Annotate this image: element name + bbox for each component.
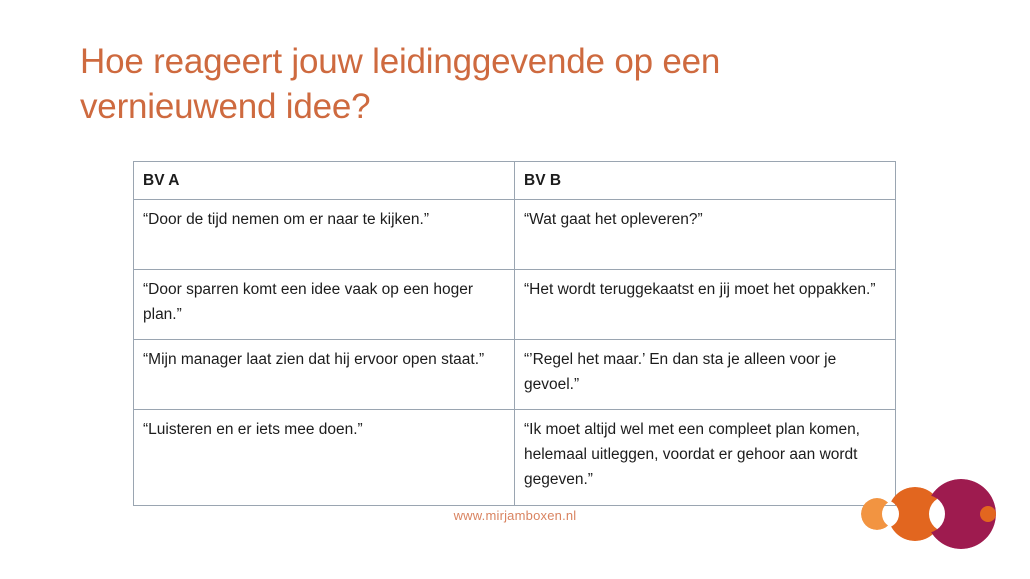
cell-bv-b-quote-2: “Het wordt teruggekaatst en jij moet het… bbox=[515, 270, 896, 340]
column-header-bv-a: BV A bbox=[134, 162, 515, 200]
cell-bv-b-quote-3: “’Regel het maar.’ En dan sta je alleen … bbox=[515, 340, 896, 410]
cell-bv-a-quote-1: “Door de tijd nemen om er naar te kijken… bbox=[134, 200, 515, 270]
table-row: “Door de tijd nemen om er naar te kijken… bbox=[134, 200, 896, 270]
table-row: “Mijn manager laat zien dat hij ervoor o… bbox=[134, 340, 896, 410]
comparison-table: BV A BV B “Door de tijd nemen om er naar… bbox=[133, 161, 896, 506]
page-title: Hoe reageert jouw leidinggevende op een … bbox=[80, 40, 780, 130]
cell-bv-b-quote-1: “Wat gaat het opleveren?” bbox=[515, 200, 896, 270]
table-header-row: BV A BV B bbox=[134, 162, 896, 200]
logo-shape-orange-dot bbox=[980, 506, 996, 522]
cell-bv-a-quote-4: “Luisteren en er iets mee doen.” bbox=[134, 410, 515, 506]
slide-canvas: Hoe reageert jouw leidinggevende op een … bbox=[0, 0, 1030, 579]
cell-bv-a-quote-2: “Door sparren komt een idee vaak op een … bbox=[134, 270, 515, 340]
table-row: “Luisteren en er iets mee doen.” “Ik moe… bbox=[134, 410, 896, 506]
cell-bv-a-quote-3: “Mijn manager laat zien dat hij ervoor o… bbox=[134, 340, 515, 410]
cell-bv-b-quote-4: “Ik moet altijd wel met een compleet pla… bbox=[515, 410, 896, 506]
comparison-table-container: BV A BV B “Door de tijd nemen om er naar… bbox=[133, 161, 895, 506]
table-row: “Door sparren komt een idee vaak op een … bbox=[134, 270, 896, 340]
column-header-bv-b: BV B bbox=[515, 162, 896, 200]
brand-logo-icon bbox=[855, 478, 1025, 550]
brand-logo bbox=[855, 478, 1025, 550]
